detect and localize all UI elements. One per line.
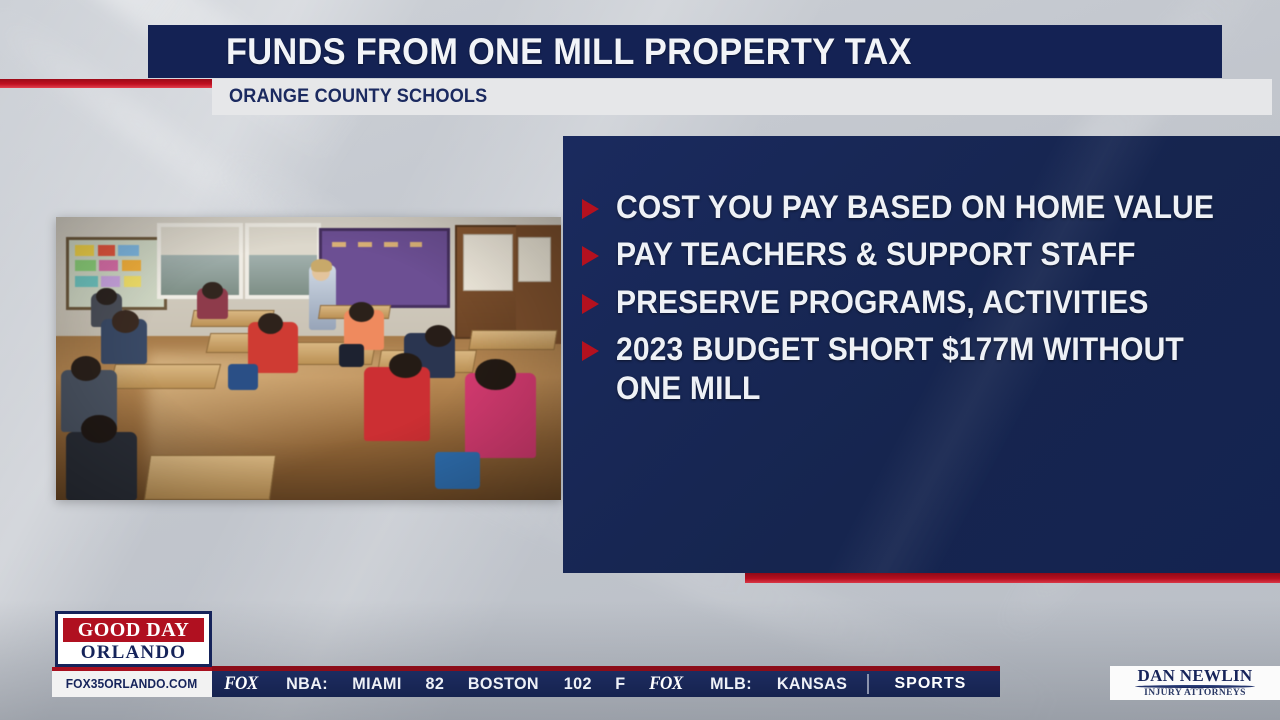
ticker-item: BOSTON bbox=[458, 674, 550, 694]
ticker-item: NBA: bbox=[275, 674, 338, 694]
sports-ticker[interactable]: FOX NBA: MIAMI 82 BOSTON 102 F FOX MLB: … bbox=[212, 671, 1000, 697]
logo-line2: ORLANDO bbox=[81, 643, 187, 662]
bullet-item: PRESERVE PROGRAMS, ACTIVITIES bbox=[582, 283, 1268, 322]
bullet-text: PAY TEACHERS & SUPPORT STAFF bbox=[616, 235, 1136, 274]
triangle-bullet-icon bbox=[582, 246, 599, 266]
ticker-item: F bbox=[605, 674, 636, 694]
ticker-divider bbox=[867, 674, 869, 694]
ticker-item: MIAMI bbox=[342, 674, 412, 694]
ticker-item: MLB: bbox=[700, 674, 763, 694]
triangle-bullet-icon bbox=[582, 341, 599, 361]
sponsor-logo: DAN NEWLIN INJURY ATTORNEYS bbox=[1110, 666, 1280, 700]
ticker-item: 82 bbox=[415, 674, 455, 694]
subhead-bar: ORANGE COUNTY SCHOOLS bbox=[212, 79, 1272, 115]
logo-line1: GOOD DAY bbox=[78, 620, 190, 640]
bullet-item: PAY TEACHERS & SUPPORT STAFF bbox=[582, 235, 1268, 274]
bullet-item: COST YOU PAY BASED ON HOME VALUE bbox=[582, 188, 1268, 227]
fox-logo-icon: FOX bbox=[640, 673, 695, 695]
ticker-item: 102 bbox=[554, 674, 603, 694]
bullet-list-panel: COST YOU PAY BASED ON HOME VALUE PAY TEA… bbox=[563, 136, 1280, 573]
bullet-text: PRESERVE PROGRAMS, ACTIVITIES bbox=[616, 283, 1149, 322]
classroom-video-thumbnail bbox=[56, 217, 561, 500]
good-day-orlando-logo: GOOD DAY ORLANDO bbox=[55, 611, 212, 667]
triangle-bullet-icon bbox=[582, 199, 599, 219]
station-website-plate: FOX35ORLANDO.COM bbox=[52, 671, 212, 697]
bullet-text: COST YOU PAY BASED ON HOME VALUE bbox=[616, 188, 1214, 227]
ticker-item: KANSAS bbox=[767, 674, 858, 694]
headline-red-accent-rule bbox=[0, 79, 212, 88]
triangle-bullet-icon bbox=[582, 294, 599, 314]
broadcast-frame: FUNDS FROM ONE MILL PROPERTY TAX ORANGE … bbox=[0, 0, 1280, 720]
logo-top-band: GOOD DAY bbox=[63, 618, 204, 642]
bullet-text: 2023 BUDGET SHORT $177M WITHOUT ONE MILL bbox=[616, 330, 1229, 409]
headline-text: FUNDS FROM ONE MILL PROPERTY TAX bbox=[226, 31, 912, 73]
station-website-text: FOX35ORLANDO.COM bbox=[66, 677, 198, 691]
subhead-text: ORANGE COUNTY SCHOOLS bbox=[229, 86, 487, 108]
bullet-item: 2023 BUDGET SHORT $177M WITHOUT ONE MILL bbox=[582, 330, 1268, 409]
fox-logo-icon: FOX bbox=[215, 673, 270, 695]
sponsor-name: DAN NEWLIN bbox=[1138, 667, 1253, 684]
panel-red-accent-rule bbox=[745, 573, 1280, 583]
sponsor-tagline: INJURY ATTORNEYS bbox=[1144, 689, 1246, 699]
logo-bottom-band: ORLANDO bbox=[63, 642, 204, 662]
ticker-category-label: SPORTS bbox=[875, 675, 987, 693]
headline-bar: FUNDS FROM ONE MILL PROPERTY TAX bbox=[148, 25, 1222, 78]
